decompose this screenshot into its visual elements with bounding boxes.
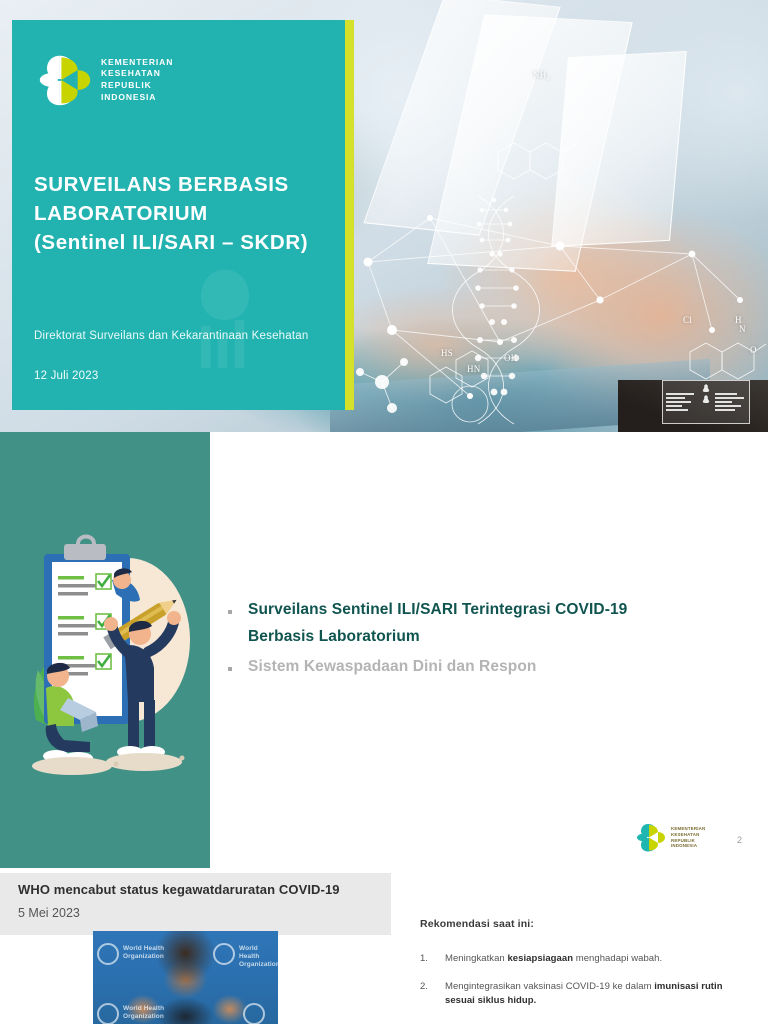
recommendation-text: Mengintegrasikan vaksinasi COVID-19 ke d… [445, 980, 740, 1009]
chem-label-hs: HS [441, 348, 453, 358]
ministry-wordmark: Kementerian Kesehatan Republik Indonesia [101, 57, 173, 104]
recommendation-number: 2. [420, 980, 434, 1009]
bullet-2-line-1: Sistem Kewaspadaan Dini dan Respon [248, 654, 537, 681]
list-item: 2. Mengintegrasikan vaksinasi COVID-19 k… [420, 980, 740, 1009]
who-emblem [97, 1003, 119, 1024]
who-emblem [243, 1003, 265, 1024]
kemenkes-clover-logo [38, 52, 92, 108]
who-backdrop-text: World HealthOrganization [239, 945, 278, 969]
square-bullet-icon [228, 610, 232, 614]
recommendations-heading: Rekomendasi saat ini: [420, 918, 740, 930]
kemenkes-clover-logo-small [636, 822, 666, 853]
page-number: 2 [737, 835, 742, 845]
chem-label-n: N [739, 324, 746, 334]
contents-bullet-list: Surveilans Sentinel ILI/SARI Terintegras… [228, 597, 748, 685]
who-emblem [97, 943, 119, 965]
accent-stripe [345, 20, 354, 410]
list-item[interactable]: Sistem Kewaspadaan Dini dan Respon [228, 654, 748, 681]
chem-label-hn: HN [467, 364, 481, 374]
slide-date: 12 Juli 2023 [34, 370, 98, 382]
bullet-1-line-2: Berbasis Laboratorium [248, 624, 627, 651]
data-readout-panel [662, 380, 750, 424]
recommendations-panel: Rekomendasi saat ini: 1. Meningkatkan ke… [420, 918, 740, 1022]
footer-ministry-wordmark: Kementerian Kesehatan Republik Indonesia [671, 826, 705, 849]
chem-label-o: O [750, 345, 757, 355]
chem-label-oh: OH [504, 353, 518, 363]
who-backdrop-text: World HealthOrganization [123, 1005, 164, 1021]
chem-label-cl: Cl [683, 315, 692, 325]
bullet-1-line-1: Surveilans Sentinel ILI/SARI Terintegras… [248, 597, 627, 624]
who-backdrop-text: World HealthOrganization [123, 945, 164, 961]
list-item: 1. Meningkatkan kesiapsiagaan menghadapi… [420, 952, 740, 967]
checklist-clipboard-team-illustration [16, 520, 202, 800]
recommendation-number: 1. [420, 952, 434, 967]
footer-ministry-logo: Kementerian Kesehatan Republik Indonesia [636, 822, 705, 853]
slide-date: 5 Mei 2023 [18, 906, 80, 920]
ministry-logo-block: Kementerian Kesehatan Republik Indonesia [38, 52, 173, 108]
slide-title-text: SURVEILANS BERBASIS LABORATORIUM (Sentin… [34, 170, 334, 257]
who-press-conference-photo: World HealthOrganization World HealthOrg… [93, 931, 278, 1024]
who-emblem [213, 943, 235, 965]
slide-who-status: WHO mencabut status kegawatdaruratan COV… [0, 868, 768, 1024]
slide-contents: Surveilans Sentinel ILI/SARI Terintegras… [0, 432, 768, 868]
slide-subtitle: Direktorat Surveilans dan Kekarantinaan … [34, 328, 324, 345]
slide-title: NH₂ HS HN OH Cl H N O [0, 0, 768, 432]
watermark-logo [160, 260, 290, 380]
recommendation-text: Meningkatkan kesiapsiagaan menghadapi wa… [445, 952, 662, 967]
chem-label-nh2: NH₂ [533, 70, 550, 80]
square-bullet-icon [228, 667, 232, 671]
page-title: WHO mencabut status kegawatdaruratan COV… [18, 882, 378, 897]
list-item[interactable]: Surveilans Sentinel ILI/SARI Terintegras… [228, 597, 748, 650]
